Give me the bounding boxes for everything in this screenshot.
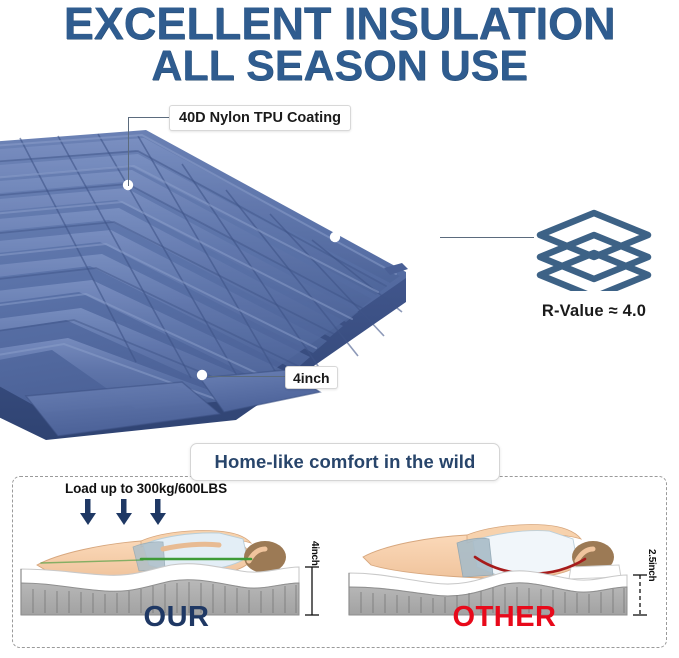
leader-line-rvalue <box>440 237 534 238</box>
infographic-page: EXCELLENT INSULATION ALL SEASON USE <box>0 0 679 658</box>
leader-line-thickness <box>208 376 288 377</box>
comfort-banner: Home-like comfort in the wild <box>190 443 500 481</box>
panel-title-other: OTHER <box>341 601 668 634</box>
comparison-panel-other: 2.5inch OTHER <box>341 477 668 649</box>
comparison-panel-our: Load up to 300kg/600LBS <box>13 477 340 649</box>
title-line-2: ALL SEASON USE <box>0 46 679 88</box>
page-title: EXCELLENT INSULATION ALL SEASON USE <box>0 2 679 87</box>
load-arrows <box>80 499 166 525</box>
layers-stack-icon <box>524 205 664 291</box>
load-capacity-label: Load up to 300kg/600LBS <box>65 481 227 496</box>
thickness-label-other: 2.5inch <box>646 549 657 581</box>
thickness-label-our: 4inch <box>309 541 320 566</box>
comfort-banner-label: Home-like comfort in the wild <box>215 451 476 473</box>
panel-title-our: OUR <box>13 601 340 634</box>
title-line-1: EXCELLENT INSULATION <box>0 2 679 46</box>
sleeping-pad-illustration <box>0 120 406 460</box>
person-silhouette <box>363 524 621 579</box>
leader-line-coating-vertical <box>128 118 129 186</box>
r-value-label: R-Value ≈ 4.0 <box>524 302 664 321</box>
marker-dot-thickness <box>197 370 207 380</box>
marker-dot-rvalue <box>330 232 340 242</box>
callout-thickness: 4inch <box>285 366 338 389</box>
sleeping-pad-svg <box>0 120 426 470</box>
r-value-block: R-Value ≈ 4.0 <box>524 205 664 321</box>
callout-coating: 40D Nylon TPU Coating <box>169 105 351 131</box>
leader-line-coating-horizontal <box>128 117 170 118</box>
comparison-box: Load up to 300kg/600LBS <box>12 476 667 648</box>
